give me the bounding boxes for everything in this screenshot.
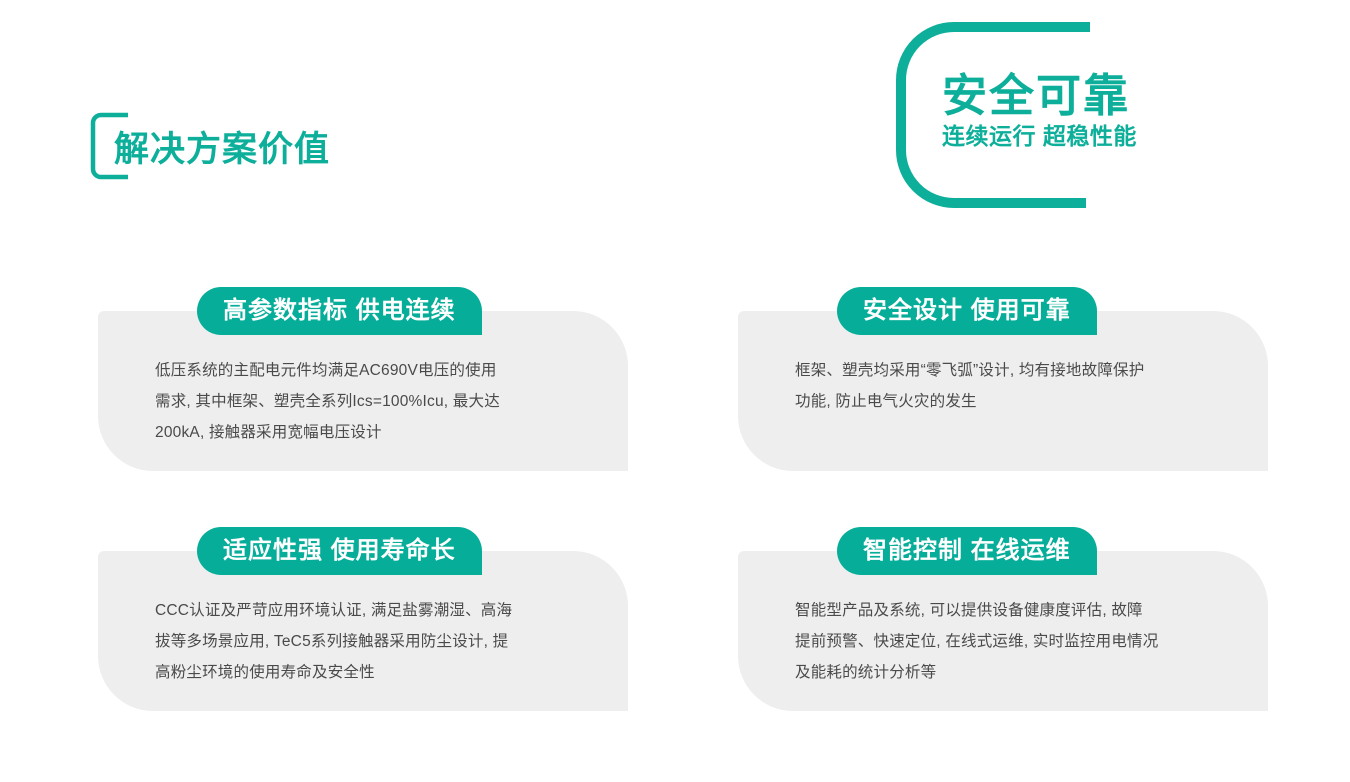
card-body-line: 提前预警、快速定位, 在线式运维, 实时监控用电情况: [795, 626, 1215, 657]
value-card: 适应性强 使用寿命长 CCC认证及严苛应用环境认证, 满足盐雾潮湿、高海 拔等多…: [98, 551, 628, 711]
card-body: 低压系统的主配电元件均满足AC690V电压的使用 需求, 其中框架、塑壳全系列I…: [155, 355, 575, 448]
hero-main-title: 安全可靠: [942, 72, 1182, 119]
card-badge: 高参数指标 供电连续: [197, 287, 482, 335]
card-body-line: 高粉尘环境的使用寿命及安全性: [155, 657, 575, 688]
card-badge-label: 安全设计 使用可靠: [863, 299, 1071, 323]
solution-value-infographic: 解决方案价值 安全可靠 连续运行 超稳性能 高参数指标 供电连续 低压系统的主配…: [0, 0, 1350, 782]
card-badge-label: 适应性强 使用寿命长: [223, 539, 456, 563]
value-card: 高参数指标 供电连续 低压系统的主配电元件均满足AC690V电压的使用 需求, …: [98, 311, 628, 471]
card-body: 智能型产品及系统, 可以提供设备健康度评估, 故障 提前预警、快速定位, 在线式…: [795, 595, 1215, 688]
card-body-line: 框架、塑壳均采用“零飞弧”设计, 均有接地故障保护: [795, 355, 1215, 386]
card-body-line: 拔等多场景应用, TeC5系列接触器采用防尘设计, 提: [155, 626, 575, 657]
card-badge-label: 智能控制 在线运维: [863, 539, 1071, 563]
page-title: 解决方案价值: [114, 126, 330, 167]
card-body: 框架、塑壳均采用“零飞弧”设计, 均有接地故障保护 功能, 防止电气火灾的发生: [795, 355, 1215, 417]
card-badge: 智能控制 在线运维: [837, 527, 1097, 575]
card-body-line: 及能耗的统计分析等: [795, 657, 1215, 688]
section-heading: 解决方案价值: [90, 110, 330, 182]
card-body-line: 需求, 其中框架、塑壳全系列Ics=100%Icu, 最大达: [155, 386, 575, 417]
card-body-line: 200kA, 接触器采用宽幅电压设计: [155, 417, 575, 448]
card-body: CCC认证及严苛应用环境认证, 满足盐雾潮湿、高海 拔等多场景应用, TeC5系…: [155, 595, 575, 688]
card-badge: 安全设计 使用可靠: [837, 287, 1097, 335]
value-card: 智能控制 在线运维 智能型产品及系统, 可以提供设备健康度评估, 故障 提前预警…: [738, 551, 1268, 711]
card-body-line: CCC认证及严苛应用环境认证, 满足盐雾潮湿、高海: [155, 595, 575, 626]
card-body-line: 功能, 防止电气火灾的发生: [795, 386, 1215, 417]
value-card: 安全设计 使用可靠 框架、塑壳均采用“零飞弧”设计, 均有接地故障保护 功能, …: [738, 311, 1268, 471]
card-badge: 适应性强 使用寿命长: [197, 527, 482, 575]
card-body-line: 低压系统的主配电元件均满足AC690V电压的使用: [155, 355, 575, 386]
hero-text-block: 安全可靠 连续运行 超稳性能: [942, 72, 1182, 151]
card-badge-label: 高参数指标 供电连续: [223, 299, 456, 323]
hero-subtitle: 连续运行 超稳性能: [942, 123, 1182, 151]
hero-badge: 安全可靠 连续运行 超稳性能: [896, 22, 1096, 208]
card-body-line: 智能型产品及系统, 可以提供设备健康度评估, 故障: [795, 595, 1215, 626]
